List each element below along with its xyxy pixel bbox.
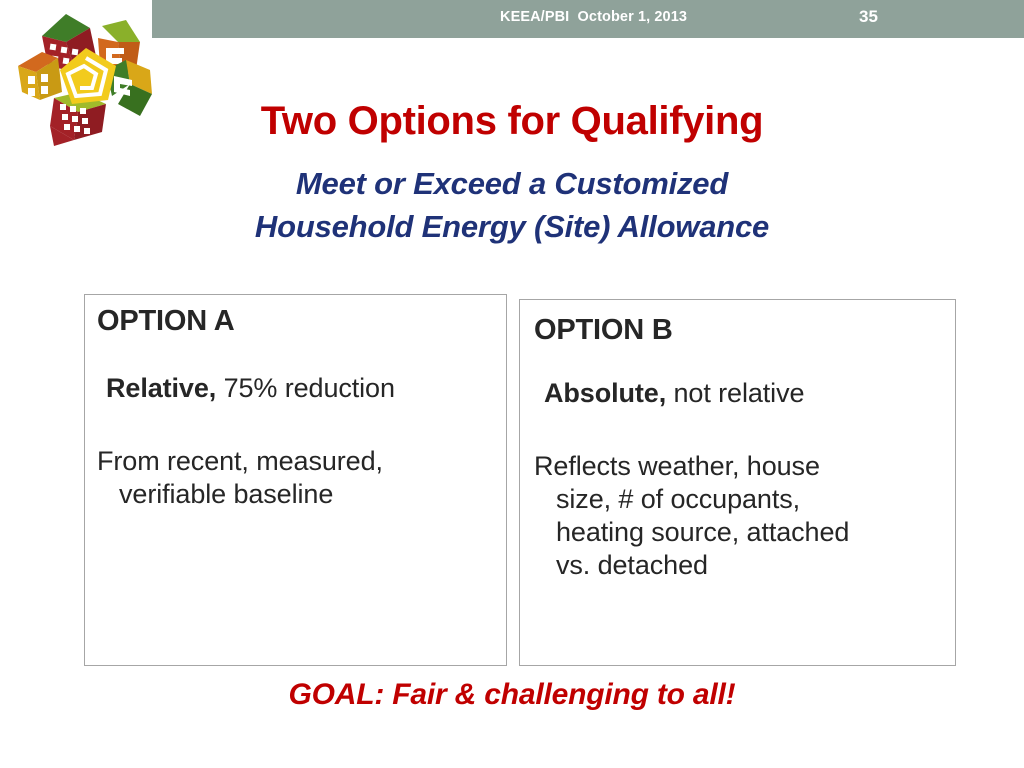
option-a-box: OPTION A Relative, 75% reduction From re… [84,294,507,666]
option-a-bullet-2-line-1: From recent, measured, [97,446,383,476]
slide-page-number: 35 [859,7,878,27]
option-b-bullet-1: Absolute, not relative [534,377,945,410]
option-a-bullet-1-rest: 75% reduction [216,373,395,403]
option-b-bullet-2-line-2: size, # of occupants, [534,483,945,516]
option-b-heading: OPTION B [534,313,945,347]
goal-statement: GOAL: Fair & challenging to all! [0,678,1024,712]
option-b-bullet-1-strong: Absolute, [544,378,666,408]
option-b-box: OPTION B Absolute, not relative Reflects… [519,299,956,666]
option-a-bullet-1: Relative, 75% reduction [97,372,496,405]
option-a-heading: OPTION A [97,304,496,338]
header-meta-text: KEEA/PBI October 1, 2013 [500,9,687,25]
option-b-bullet-2-line-3: heating source, attached [534,516,945,549]
option-b-bullet-1-rest: not relative [666,378,804,408]
slide-subtitle: Meet or Exceed a Customized Household En… [0,163,1024,249]
header-band-inner: KEEA/PBI October 1, 2013 35 [152,0,1024,38]
option-a-bullet-2: From recent, measured, verifiable baseli… [97,445,496,511]
option-a-bullet-2-line-2: verifiable baseline [97,478,496,511]
slide-subtitle-line-2: Household Energy (Site) Allowance [0,206,1024,249]
header-band: KEEA/PBI October 1, 2013 35 [152,0,1024,38]
option-b-bullet-2: Reflects weather, house size, # of occup… [534,450,945,582]
option-a-bullet-1-strong: Relative, [106,373,216,403]
logo-house-left [18,52,62,100]
slide-title: Two Options for Qualifying [0,100,1024,143]
slide-canvas: KEEA/PBI October 1, 2013 35 [0,0,1024,768]
option-b-bullet-2-line-4: vs. detached [534,549,945,582]
slide-subtitle-line-1: Meet or Exceed a Customized [0,163,1024,206]
option-b-bullet-2-line-1: Reflects weather, house [534,451,820,481]
